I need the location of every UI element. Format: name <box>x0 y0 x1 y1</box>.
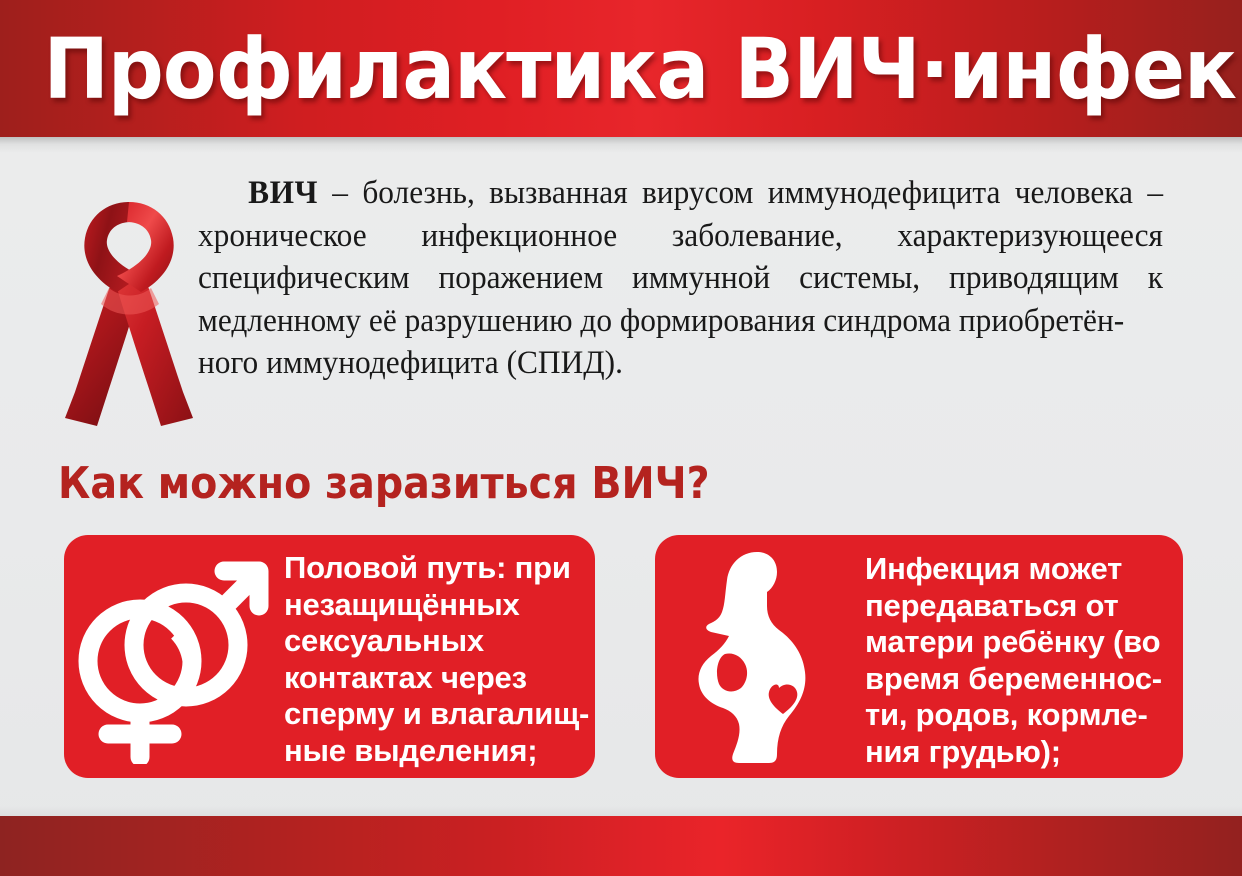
intro-body: – болезнь, вызванная вирусом иммунодефиц… <box>198 175 1163 339</box>
male-female-gender-symbols-icon <box>64 535 284 778</box>
page-title: Профилактика ВИЧ·инфекции <box>43 26 1198 112</box>
section-heading-transmission: Как можно заразиться ВИЧ? <box>58 460 710 508</box>
intro-term: ВИЧ <box>248 175 318 211</box>
intro-lastline: ного иммунодефицита (СПИД). <box>198 342 1163 385</box>
transmission-card-mother-to-child-text: Инфекция может передаваться от матери ре… <box>865 551 1162 770</box>
header-banner: Профилактика ВИЧ·инфекции <box>0 0 1242 137</box>
intro-paragraph: ВИЧ – болезнь, вызванная вирусом иммунод… <box>198 172 1163 385</box>
transmission-card-mother-to-child: Инфекция может передаваться от матери ре… <box>655 535 1183 778</box>
aids-awareness-ribbon-icon <box>55 180 205 430</box>
pregnant-woman-icon <box>655 535 865 778</box>
transmission-card-sexual: Половой путь: при незащищённых сексуальн… <box>64 535 595 778</box>
intro-section: ВИЧ – болезнь, вызванная вирусом иммунод… <box>0 172 1242 442</box>
poster-root: Профилактика ВИЧ·инфекции <box>0 0 1242 876</box>
footer-banner <box>0 816 1242 876</box>
transmission-card-sexual-text: Половой путь: при незащищённых сексуальн… <box>284 550 589 769</box>
